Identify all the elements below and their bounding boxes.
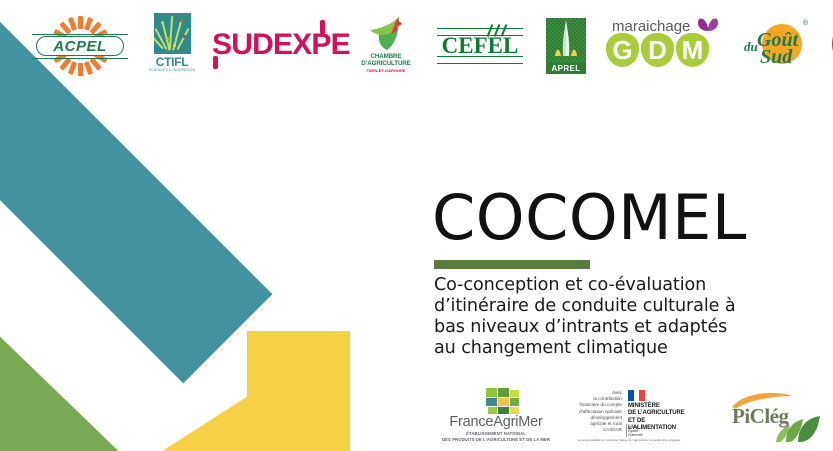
logo-sudexpe: SUDEXPE xyxy=(212,20,334,72)
subtitle-line-3: bas niveaux d’intrants et adaptés xyxy=(434,317,824,338)
yellow-triangle-body xyxy=(247,331,350,451)
project-subtitle: Co-conception et co-évaluation d’itinéra… xyxy=(434,275,824,359)
acpel-capsule-shape: ACPEL xyxy=(36,36,124,56)
ministry-divider xyxy=(626,424,627,437)
partner-logo-strip: ACPEL CTIFL SCIENCES & INNOVATION xyxy=(0,0,833,92)
franceagrimer-mosaic-icon xyxy=(486,388,520,414)
presentation-slide: ACPEL CTIFL SCIENCES & INNOVATION xyxy=(0,0,833,451)
subtitle-line-4: au changement climatique xyxy=(434,338,824,359)
gout-word-sud: Sud xyxy=(760,46,792,69)
green-corner-triangle xyxy=(0,337,118,451)
chambre-region-label: TARN-ET-GARONNE xyxy=(354,68,418,73)
project-title: COCOMEL xyxy=(432,186,824,250)
title-accent-bar xyxy=(434,260,590,269)
gdm-letter-g: G xyxy=(606,33,639,67)
sudexpe-accent-mark-upper xyxy=(320,20,325,34)
gdm-leaf-icon xyxy=(696,16,720,32)
gdm-wordmark: G D M xyxy=(606,33,709,67)
subtitle-line-1: Co-conception et co-évaluation xyxy=(434,275,824,296)
gdm-letter-d: D xyxy=(641,33,674,67)
franceagrimer-subtitle: ÉTABLISSEMENT NATIONAL DES PRODUITS DE L… xyxy=(442,431,550,442)
picleg-leaf-icon xyxy=(776,414,822,442)
ctifl-tagline: SCIENCES & INNOVATION xyxy=(148,68,196,72)
franceagrimer-wordmark: FranceAgriMer xyxy=(442,414,550,430)
ministry-motto: Liberté Égalité Fraternité xyxy=(628,425,643,438)
gout-registered-icon: ® xyxy=(803,20,808,27)
logo-picleg: PiClég xyxy=(718,386,822,442)
casdar-footnote: La responsabilité du ministère chargé de… xyxy=(564,438,694,442)
gout-word-du: du xyxy=(744,39,758,55)
logo-aprel: APREL xyxy=(542,18,590,74)
logo-maraichage-gdm: maraichage G D M xyxy=(606,18,722,74)
ctifl-plant-emblem-icon xyxy=(154,13,191,54)
acpel-wordmark: ACPEL xyxy=(53,38,106,55)
funder-logo-strip: FranceAgriMer ÉTABLISSEMENT NATIONAL DES… xyxy=(432,386,830,448)
subtitle-line-2: d’itinéraire de conduite culturale à xyxy=(434,296,824,317)
logo-cefel: CEFEL xyxy=(434,22,526,70)
logo-acpel: ACPEL xyxy=(32,15,128,77)
aprel-wordmark: APREL xyxy=(546,63,586,74)
ctifl-wordmark: CTIFL xyxy=(148,55,196,69)
headline-block: COCOMEL Co-conception et co-évaluation d… xyxy=(432,186,824,359)
casdar-ministry-block: Avec la contribution financière du compt… xyxy=(564,386,694,444)
sudexpe-accent-mark-lower xyxy=(213,56,218,69)
chambre-wordmark: CHAMBRE D’AGRICULTURE xyxy=(354,53,418,68)
aprel-emblem-icon xyxy=(546,18,586,63)
logo-franceagrimer: FranceAgriMer ÉTABLISSEMENT NATIONAL DES… xyxy=(442,388,550,444)
casdar-credit-text: Avec la contribution financière du compt… xyxy=(564,390,622,433)
logo-ctifl: CTIFL SCIENCES & INNOVATION xyxy=(148,13,196,79)
logo-chambre-agriculture: CHAMBRE D’AGRICULTURE TARN-ET-GARONNE xyxy=(354,16,418,76)
french-flag-icon xyxy=(628,390,645,401)
chambre-leaf-icon xyxy=(366,16,406,52)
gdm-letter-m: M xyxy=(676,33,709,67)
cefel-wordmark: CEFEL xyxy=(434,33,526,59)
logo-gout-du-sud: du Goût Sud ® xyxy=(738,18,810,74)
sudexpe-wordmark: SUDEXPE xyxy=(212,28,350,62)
